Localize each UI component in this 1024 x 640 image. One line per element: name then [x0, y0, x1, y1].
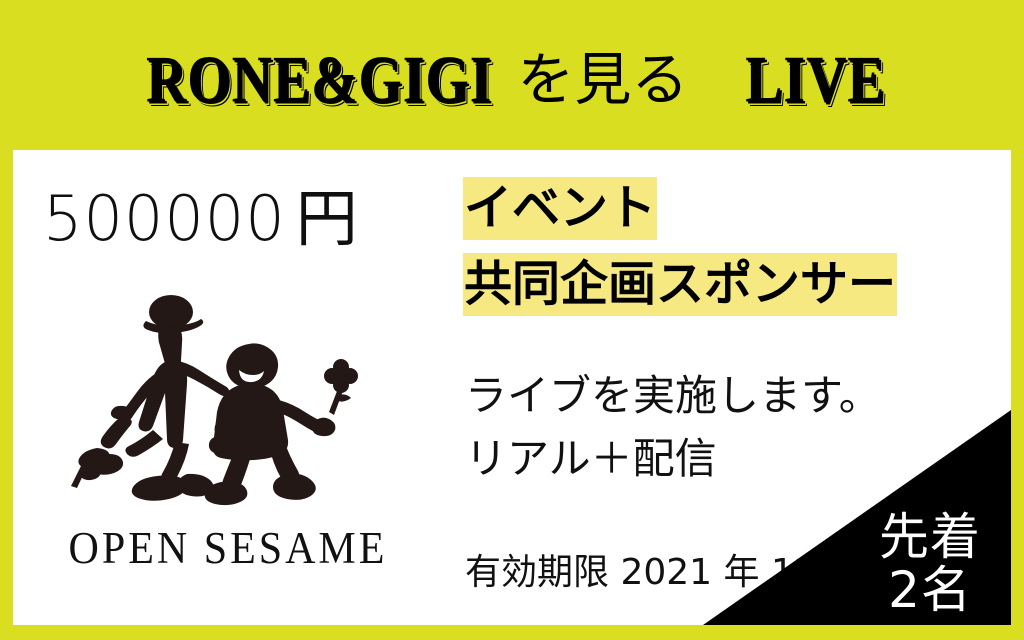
badge-label-line-2: 2名	[865, 564, 995, 617]
badge-label-line-1: 先着	[865, 511, 995, 564]
brand-name: OPEN SESAME	[13, 526, 443, 571]
two-figures-silhouette-icon	[53, 290, 383, 520]
badge-label: 先着 2名	[865, 511, 995, 617]
ticket-card: RONE&GIGI を見る LIVE 500000円	[0, 0, 1024, 640]
price-value: 500000円	[43, 188, 359, 250]
header-band: RONE&GIGI を見る LIVE	[0, 0, 1024, 150]
price-amount: 500000	[43, 182, 286, 255]
header-brand-left: RONE&GIGI	[146, 45, 492, 112]
header-title: RONE&GIGI を見る LIVE	[133, 49, 891, 109]
headline-highlight-2: 共同企画スポンサー	[463, 253, 897, 316]
content-card: 500000円	[13, 150, 1011, 625]
header-brand-right: LIVE	[746, 45, 886, 112]
headline-line-1: イベント	[463, 184, 657, 233]
left-column: 500000円	[13, 150, 443, 625]
headline-line-2: 共同企画スポンサー	[463, 260, 897, 309]
body-line-2: リアル＋配信	[465, 438, 717, 480]
expiry-date: 有効期限 2021 年 12 月末	[465, 555, 900, 591]
price-currency: 円	[296, 182, 359, 255]
body-line-1: ライブを実施します。	[465, 375, 881, 417]
headline-highlight-1: イベント	[463, 177, 657, 240]
header-japanese-text: を見る	[517, 52, 688, 109]
